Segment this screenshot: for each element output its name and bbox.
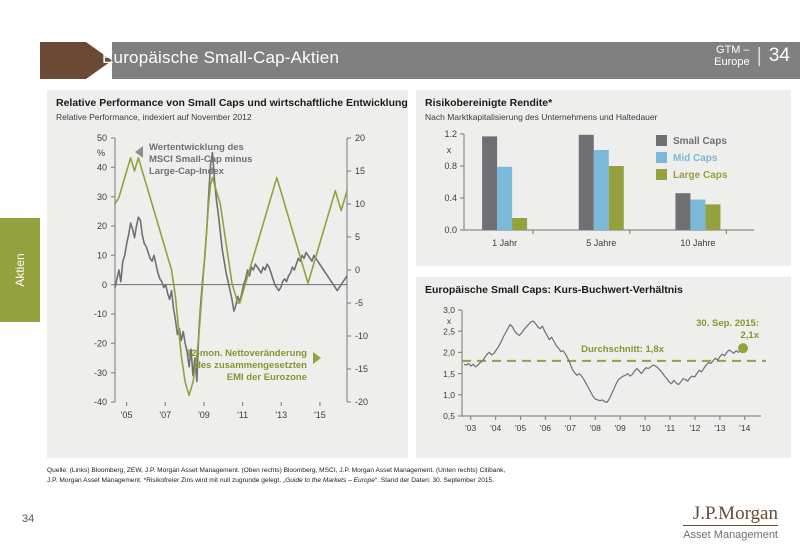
pb-y-axis-unit: x [447, 316, 452, 326]
pb-x-axis-tick-label: '05 [515, 423, 526, 433]
pb-y-axis-tick-label: 3,0 [443, 305, 455, 315]
bar-category-label: 5 Jahre [586, 238, 616, 248]
left-axis-tick-label: -40 [94, 397, 107, 407]
right-axis-tick-label: 5 [355, 232, 360, 242]
right-axis-tick-label: -5 [355, 298, 363, 308]
jpmorgan-logo: J.P.Morgan Asset Management [683, 503, 778, 541]
legend-label-large-caps: Large Caps [673, 170, 728, 181]
pb-x-axis-tick-label: '13 [714, 423, 725, 433]
chart-panel-relative-performance: Relative Performance von Small Caps und … [47, 90, 408, 458]
footnote-line-2-a: J.P. Morgan Asset Management. *Risikofre… [47, 477, 285, 484]
annotation-eurozone-pmi-line-1: 12-mon. Nettoveränderung [186, 348, 307, 359]
right-axis-tick-label: 10 [355, 199, 365, 209]
footnote-guide-title: Guide to the Markets – Europe [285, 477, 375, 484]
pb-y-axis-tick-label: 2,5 [443, 326, 455, 336]
bar-small-caps-1-jahr [482, 136, 497, 230]
x-axis-tick-label: '07 [159, 410, 171, 420]
last-point-label-line-2: 2,1x [741, 330, 760, 341]
annotation-eurozone-pmi-line-3: EMI der Eurozone [227, 372, 307, 383]
pb-x-axis-tick-label: '12 [689, 423, 700, 433]
legend-swatch-small-caps [656, 135, 667, 146]
chart-subtitle-relative-performance: Relative Performance, indexiert auf Nove… [56, 112, 408, 122]
pb-x-axis-tick-label: '10 [640, 423, 651, 433]
pb-x-axis-tick-label: '06 [540, 423, 551, 433]
annotation-eurozone-pmi-line-2: des zusammengesetzten [195, 360, 307, 371]
bar-small-caps-5-jahre [579, 135, 594, 230]
x-axis-tick-label: '15 [314, 410, 326, 420]
bar-y-axis-tick-label: 1.2 [444, 129, 457, 139]
chart-title-price-to-book: Europäische Small Caps: Kurs-Buchwert-Ve… [425, 284, 791, 296]
page-title: Europäische Small-Cap-Aktien [102, 48, 339, 68]
x-axis-tick-label: '05 [121, 410, 133, 420]
chart-svg-risk-adjusted-return: 1.20.80.40.0x1 Jahr5 Jahre10 JahreSmall … [416, 122, 791, 266]
header-meta: GTM – Europe | 34 [714, 44, 790, 68]
bar-mid-caps-5-jahre [594, 150, 609, 230]
logo-wordmark: J.P.Morgan [683, 503, 778, 526]
header-page-number: 34 [769, 45, 790, 67]
left-axis-unit: % [97, 148, 105, 158]
gtm-line-2: Europe [714, 56, 749, 68]
right-axis-tick-label: -20 [355, 397, 368, 407]
left-axis-tick-label: 30 [97, 192, 107, 202]
chart-svg-relative-performance: 50403020100-10-20-30-40%20151050-5-10-15… [47, 122, 408, 452]
annotation-small-minus-large-line-3: Large-Cap-Index [149, 166, 225, 177]
pb-y-axis-tick-label: 2,0 [443, 348, 455, 358]
right-axis-tick-label: -15 [355, 364, 368, 374]
sidebar-tab-aktien[interactable]: Aktien [0, 218, 40, 322]
pb-y-axis-tick-label: 0,5 [443, 411, 455, 421]
chart-panel-price-to-book: Europäische Small Caps: Kurs-Buchwert-Ve… [416, 277, 791, 458]
bar-mid-caps-1-jahr [497, 167, 512, 230]
legend-label-small-caps: Small Caps [673, 136, 727, 147]
left-axis-tick-label: -30 [94, 368, 107, 378]
x-axis-tick-label: '11 [237, 410, 248, 420]
pb-x-axis-tick-label: '03 [465, 423, 476, 433]
pb-x-axis-tick-label: '04 [490, 423, 501, 433]
last-data-point-marker [738, 343, 748, 353]
chart-svg-price-to-book: 3,02,52,01,51,00,5x'03'04'05'06'07'08'09… [416, 296, 791, 458]
left-axis-tick-label: 20 [97, 221, 107, 231]
chart-title-risk-adjusted-return: Risikobereinigte Rendite* [425, 97, 791, 109]
right-axis-tick-label: 20 [355, 133, 365, 143]
pb-y-axis-tick-label: 1,5 [443, 369, 455, 379]
gtm-label: GTM – Europe [714, 44, 749, 68]
header-divider: | [757, 45, 762, 68]
annotation-small-minus-large-line-2: MSCI Small-Cap minus [149, 154, 252, 165]
legend-swatch-mid-caps [656, 152, 667, 163]
sidebar-tab-label: Aktien [13, 253, 27, 286]
right-triangle-icon [313, 352, 321, 364]
legend-label-mid-caps: Mid Caps [673, 153, 718, 164]
pb-x-axis-tick-label: '11 [665, 423, 676, 433]
chart-panel-risk-adjusted-return: Risikobereinigte Rendite* Nach Marktkapi… [416, 90, 791, 266]
left-axis-tick-label: 50 [97, 133, 107, 143]
bar-small-caps-10-jahre [675, 193, 690, 230]
pb-x-axis-tick-label: '14 [739, 423, 750, 433]
bar-large-caps-5-jahre [609, 166, 624, 230]
bar-category-label: 1 Jahr [492, 238, 517, 248]
average-line-label: Durchschnitt: 1,8x [581, 344, 665, 355]
chart-subtitle-risk-adjusted-return: Nach Marktkapitalisierung des Unternehme… [425, 112, 791, 122]
bar-y-axis-tick-label: 0.8 [444, 161, 457, 171]
bar-category-label: 10 Jahre [680, 238, 715, 248]
footnote-line-2-b: “. Stand der Daten: 30. September 2015. [375, 477, 494, 484]
gtm-line-1: GTM – [714, 44, 749, 56]
pb-x-axis-tick-label: '07 [565, 423, 576, 433]
left-axis-tick-label: 40 [97, 163, 107, 173]
right-axis-tick-label: -10 [355, 331, 368, 341]
bar-mid-caps-10-jahre [690, 200, 705, 230]
right-axis-tick-label: 15 [355, 166, 365, 176]
slide-page-number: 34 [22, 513, 34, 525]
left-axis-tick-label: -10 [94, 309, 107, 319]
last-point-label-line-1: 30. Sep. 2015: [696, 318, 759, 329]
x-axis-tick-label: '13 [275, 410, 287, 420]
logo-tagline: Asset Management [683, 529, 778, 541]
legend-swatch-large-caps [656, 169, 667, 180]
bar-y-axis-unit: x [447, 145, 452, 155]
left-triangle-icon [135, 146, 143, 158]
bar-y-axis-tick-label: 0.4 [444, 193, 457, 203]
left-axis-tick-label: -20 [94, 339, 107, 349]
pb-x-axis-tick-label: '09 [615, 423, 626, 433]
x-axis-tick-label: '09 [198, 410, 210, 420]
bar-large-caps-1-jahr [512, 218, 527, 230]
right-axis-tick-label: 0 [355, 265, 360, 275]
annotation-small-minus-large-line-1: Wertentwicklung des [149, 142, 244, 153]
source-footnote: Quelle: (Links) Bloomberg, ZEW, J.P. Mor… [47, 466, 747, 485]
left-axis-tick-label: 10 [97, 251, 107, 261]
bar-y-axis-tick-label: 0.0 [444, 225, 457, 235]
pb-y-axis-tick-label: 1,0 [443, 390, 455, 400]
footnote-line-1: Quelle: (Links) Bloomberg, ZEW, J.P. Mor… [47, 466, 747, 476]
chart-title-relative-performance: Relative Performance von Small Caps und … [56, 97, 408, 109]
left-axis-tick-label: 0 [102, 280, 107, 290]
pb-x-axis-tick-label: '08 [590, 423, 601, 433]
footnote-line-2: J.P. Morgan Asset Management. *Risikofre… [47, 476, 747, 486]
bar-large-caps-10-jahre [705, 204, 720, 230]
